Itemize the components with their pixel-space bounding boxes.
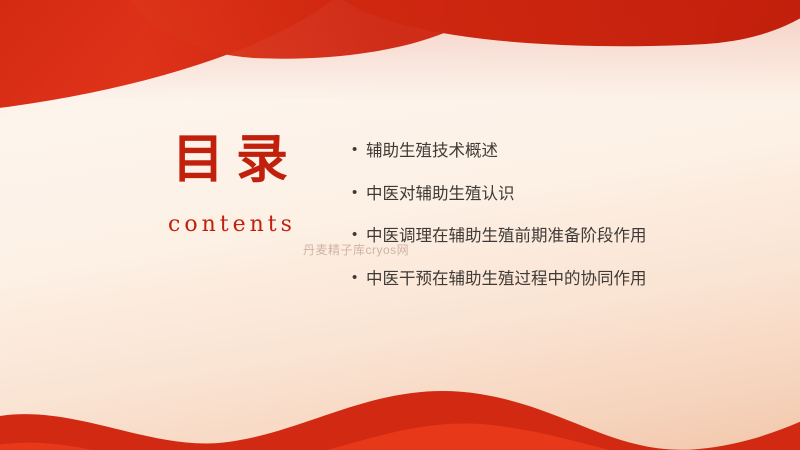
bullet-marker-icon: • [352,138,366,162]
list-item-label: 辅助生殖技术概述 [366,138,724,165]
bullet-marker-icon: • [352,266,366,290]
list-item-label: 中医对辅助生殖认识 [366,181,724,208]
title-block: 目录 contents [120,130,340,237]
list-item-label: 中医干预在辅助生殖过程中的协同作用 [366,266,724,293]
bottom-red-wave [0,350,800,450]
watermark: 丹麦精子库cryos网 [303,241,409,258]
bullet-marker-icon: • [352,181,366,205]
list-item: • 中医对辅助生殖认识 [352,181,724,208]
page-subtitle: contents [120,212,340,237]
list-item-label: 中医调理在辅助生殖前期准备阶段作用 [366,223,724,250]
presentation-slide: 目录 contents • 辅助生殖技术概述 • 中医对辅助生殖认识 • 中医调… [0,0,800,450]
contents-list: • 辅助生殖技术概述 • 中医对辅助生殖认识 • 中医调理在辅助生殖前期准备阶段… [352,138,724,309]
list-item: • 辅助生殖技术概述 [352,138,724,165]
page-title: 目录 [120,130,340,190]
list-item: • 中医干预在辅助生殖过程中的协同作用 [352,266,724,293]
wave-shape-icon [0,350,800,450]
